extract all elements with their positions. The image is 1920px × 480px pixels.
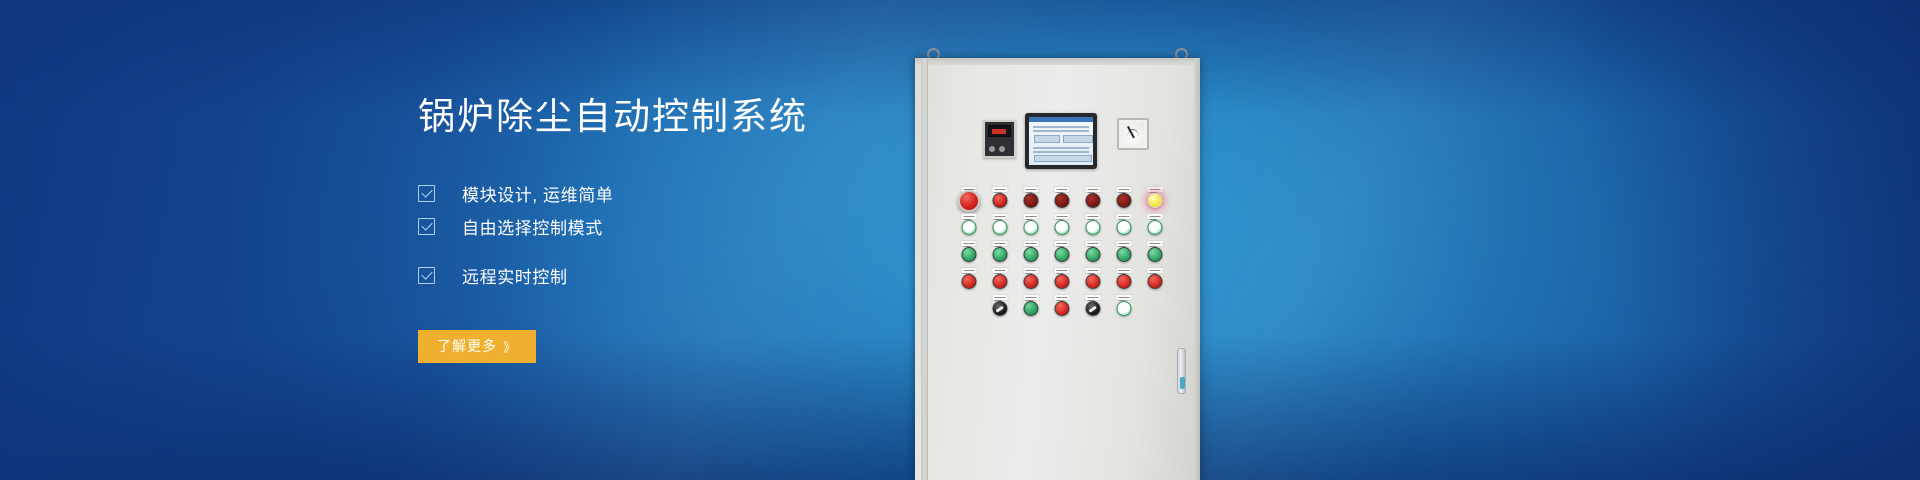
page-title: 锅炉除尘自动控制系统 xyxy=(418,96,938,139)
control-cabinet-image xyxy=(915,40,1205,480)
learn-more-label: 了解更多 xyxy=(437,336,497,356)
analog-meter xyxy=(1117,118,1149,150)
indicator-lamp-red[interactable] xyxy=(984,186,1015,213)
list-item: 自由选择控制模式 xyxy=(418,210,938,243)
push-button-red[interactable] xyxy=(1077,267,1108,294)
check-icon xyxy=(418,267,435,284)
feature-list: 模块设计, 运维简单 自由选择控制模式 远程实时控制 xyxy=(418,177,938,292)
indicator-lamp-green[interactable] xyxy=(984,240,1015,267)
indicator-lamp-white[interactable] xyxy=(984,213,1015,240)
indicator-lamp-white[interactable] xyxy=(1108,213,1139,240)
indicator-lamp-amber[interactable] xyxy=(1140,186,1171,213)
indicator-lamp-white[interactable] xyxy=(1015,213,1046,240)
list-item: 模块设计, 运维简单 xyxy=(418,177,938,210)
check-icon xyxy=(418,185,435,202)
list-item: 远程实时控制 xyxy=(418,259,938,292)
cabinet-body xyxy=(915,58,1200,480)
push-button-red[interactable] xyxy=(953,267,984,294)
indicator-lamp-green[interactable] xyxy=(1046,240,1077,267)
push-button-green[interactable] xyxy=(1015,294,1046,321)
indicator-lamp-red[interactable] xyxy=(1015,186,1046,213)
hero-banner: 锅炉除尘自动控制系统 模块设计, 运维简单 自由选择控制模式 远程实时控制 了解… xyxy=(0,0,1920,480)
push-button-red[interactable] xyxy=(1108,267,1139,294)
selector-switch-black[interactable] xyxy=(1077,294,1108,321)
indicator-lamp-white[interactable] xyxy=(953,213,984,240)
lamp-row xyxy=(953,186,1171,213)
hmi-touch-panel xyxy=(1025,113,1097,169)
learn-more-button[interactable]: 了解更多 》 xyxy=(418,330,536,363)
hmi-titlebar xyxy=(1029,117,1093,122)
cabinet-hinge-seam xyxy=(921,58,928,480)
push-button-red[interactable] xyxy=(1140,267,1171,294)
push-button-red[interactable] xyxy=(1046,267,1077,294)
list-item-label: 远程实时控制 xyxy=(462,263,568,288)
chevron-right-icon: 》 xyxy=(503,337,517,356)
indicator-lamp-red[interactable] xyxy=(1108,186,1139,213)
indicator-lamp-green[interactable] xyxy=(1077,240,1108,267)
check-icon xyxy=(418,218,435,235)
indicator-lamp-white[interactable] xyxy=(1140,213,1171,240)
indicator-lamp-white[interactable] xyxy=(1108,294,1139,321)
cabinet-right-edge xyxy=(1194,58,1200,480)
indicator-lamp-white[interactable] xyxy=(1077,213,1108,240)
lamp-row xyxy=(953,213,1171,240)
hero-copy-block: 锅炉除尘自动控制系统 模块设计, 运维简单 自由选择控制模式 远程实时控制 了解… xyxy=(418,96,938,363)
indicator-lamp-red[interactable] xyxy=(1046,186,1077,213)
indicator-lamp-green[interactable] xyxy=(953,240,984,267)
hmi-screen xyxy=(1029,117,1093,165)
indicator-lamp-red[interactable] xyxy=(1077,186,1108,213)
push-button-red[interactable] xyxy=(1046,294,1077,321)
cabinet-door-handle[interactable] xyxy=(1177,348,1186,394)
meter-face xyxy=(1122,123,1144,145)
selector-switch-black[interactable] xyxy=(984,294,1015,321)
push-button-red[interactable] xyxy=(984,267,1015,294)
controller-display xyxy=(988,125,1011,137)
lamp-row xyxy=(953,240,1171,267)
indicator-lamp-grid xyxy=(953,186,1171,321)
indicator-lamp-green[interactable] xyxy=(1140,240,1171,267)
lamp-row xyxy=(953,267,1171,294)
controller-knobs xyxy=(989,146,1005,152)
digital-controller xyxy=(983,120,1016,158)
indicator-lamp-green[interactable] xyxy=(1108,240,1139,267)
push-button-red[interactable] xyxy=(1015,267,1046,294)
indicator-lamp-white[interactable] xyxy=(1046,213,1077,240)
cabinet-top-edge xyxy=(915,58,1200,65)
list-item-label: 模块设计, 运维简单 xyxy=(462,181,613,206)
emergency-stop-button[interactable] xyxy=(953,186,984,213)
indicator-lamp-green[interactable] xyxy=(1015,240,1046,267)
list-item-label: 自由选择控制模式 xyxy=(462,214,603,239)
lamp-row xyxy=(953,294,1171,321)
